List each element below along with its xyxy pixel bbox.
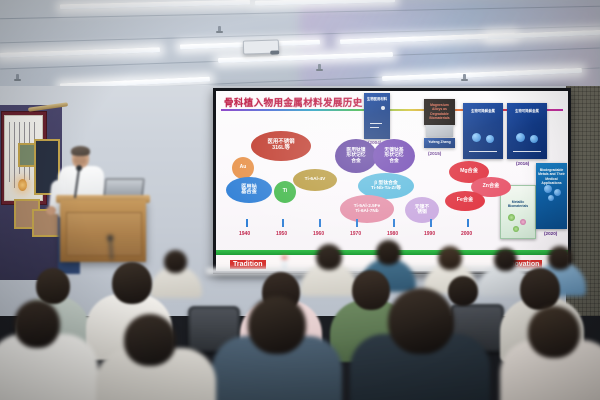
book-biodegradable-year: (2020) [544, 231, 557, 236]
material-ellipse-ti: Ti [274, 181, 296, 203]
podium-front-panel [66, 212, 142, 256]
material-label: 锈钢 [415, 210, 429, 215]
attendee-head [548, 246, 572, 270]
attendee-head [388, 288, 454, 354]
ceiling-light [0, 47, 160, 58]
sprinkler-head-icon [463, 74, 466, 81]
attendee-head [528, 306, 580, 358]
timeline-year: 2000 [461, 231, 472, 237]
material-label: 形状记忆 [384, 153, 403, 158]
timeline-tick [393, 219, 395, 227]
sprinkler-head-icon [318, 64, 321, 71]
material-ellipse-tini-sma: 医用钛镍 形状记忆 合金 [335, 139, 377, 173]
attendee-head [14, 300, 60, 348]
board-lamp [18, 179, 27, 191]
water-bottle [282, 256, 287, 269]
material-label: Mg合金 [460, 169, 478, 174]
bottle-cap [282, 256, 287, 259]
slide-title: 骨科植入物用金属材料发展历史 [224, 95, 363, 109]
ceiling [0, 0, 600, 92]
material-label: 316L等 [268, 146, 295, 152]
sprinkler-head-icon [16, 74, 19, 81]
presenter-hair [71, 146, 90, 156]
sprinkler-head-icon [218, 26, 221, 33]
timeline-tick [356, 219, 358, 227]
timeline-tick [430, 219, 432, 227]
attendee-head [248, 296, 306, 354]
timeline-year: 1970 [350, 231, 361, 237]
material-ellipse-nifree-steel: 无镍不 锈钢 [405, 197, 439, 223]
book-2004-cover: 生物医用材料 [364, 93, 390, 139]
book-magnesium-illustration [426, 125, 453, 137]
material-label: Ti-6Al-7Nb [354, 209, 380, 214]
timeline-tick [246, 219, 248, 227]
presenter-hand [46, 206, 56, 215]
material-label: 合金 [346, 159, 365, 164]
book-chinese-right-title: 生物可降解金属 [510, 109, 544, 113]
material-label: Ti [283, 189, 288, 195]
lecture-hall-photo: 骨科植入物用金属材料发展历史 生物医用材料 (2004) Magnesium A… [0, 0, 600, 400]
timeline-tick [467, 219, 469, 227]
timeline-year: 1990 [424, 231, 435, 237]
material-ellipse-ti5al25fe: Ti-5Al-2.5Fe Ti-6Al-7Nb [340, 195, 394, 223]
book-magnesium-author: Yufeng Zheng [426, 140, 453, 144]
material-ellipse-stainless-steel: 医用不锈钢 316L等 [251, 131, 311, 161]
attendee-head [448, 276, 478, 306]
attendee-head [124, 314, 176, 366]
material-label: Zn合金 [483, 184, 500, 189]
timeline-tick [319, 219, 321, 227]
attendee-head [352, 270, 390, 310]
attendee-head [36, 268, 70, 304]
attendee-head [494, 248, 517, 271]
material-label: Fe合金 [457, 198, 473, 203]
attendee-head [438, 246, 462, 270]
timeline-year: 1980 [387, 231, 398, 237]
attendee-head [164, 250, 187, 273]
book-magnesium-author-band: Yufeng Zheng [424, 138, 455, 148]
attendee-head [520, 268, 560, 310]
presenter-face [74, 156, 86, 164]
material-ellipse-cobalt-alloy: 医用钴 基合金 [226, 177, 272, 203]
attendee-head [112, 262, 152, 304]
ceiling-projector [243, 39, 279, 54]
material-ellipse-nifree-ti-sma: 无镍钛基 形状记忆 合金 [373, 139, 415, 173]
timeline-tick [282, 219, 284, 227]
book-biodegradable-metals-cover: Biodegradable Metals and Their Medical A… [536, 163, 567, 229]
book-metallic-title: Metallic Biomaterials [503, 200, 533, 209]
material-label: Au [240, 165, 247, 170]
material-label: 基合金 [241, 190, 257, 195]
book-chinese-blue-left-cover: 生物可降解金属 [463, 103, 503, 159]
book-magnesium-title: Magnesium Alloys as Degradable Biomateri… [426, 103, 453, 120]
material-ellipse-fe-alloy: Fe合金 [445, 191, 485, 211]
material-label: Ti-6Al-4V [305, 177, 326, 182]
book-magnesium-alloys-cover: Magnesium Alloys as Degradable Biomateri… [424, 99, 455, 125]
material-label: 形状记忆 [346, 153, 365, 158]
book-magnesium-year: (2015) [428, 151, 441, 156]
attendee-head [376, 240, 401, 265]
book-2004-title: 生物医用材料 [366, 97, 388, 101]
material-label: Ti-Nb-Ta-Zr等 [371, 186, 401, 191]
timeline-year: 1950 [276, 231, 287, 237]
timeline-year: 1940 [239, 231, 250, 237]
material-ellipse-ti6al4v: Ti-6Al-4V [293, 169, 337, 191]
attendee-head [316, 244, 342, 270]
projector-lens [270, 50, 279, 54]
material-ellipse-au: Au [232, 157, 254, 179]
laptop-screen [105, 180, 143, 195]
timeline-year: 1960 [313, 231, 324, 237]
book-chinese-left-title: 生物可降解金属 [466, 109, 500, 113]
book-chinese-right-year: (2016) [516, 161, 529, 166]
material-label: 合金 [384, 159, 403, 164]
ceiling-light [60, 0, 250, 9]
book-biodegradable-title: Biodegradable Metals and Their Medical A… [538, 168, 565, 185]
book-chinese-blue-right-cover: 生物可降解金属 [507, 103, 547, 159]
